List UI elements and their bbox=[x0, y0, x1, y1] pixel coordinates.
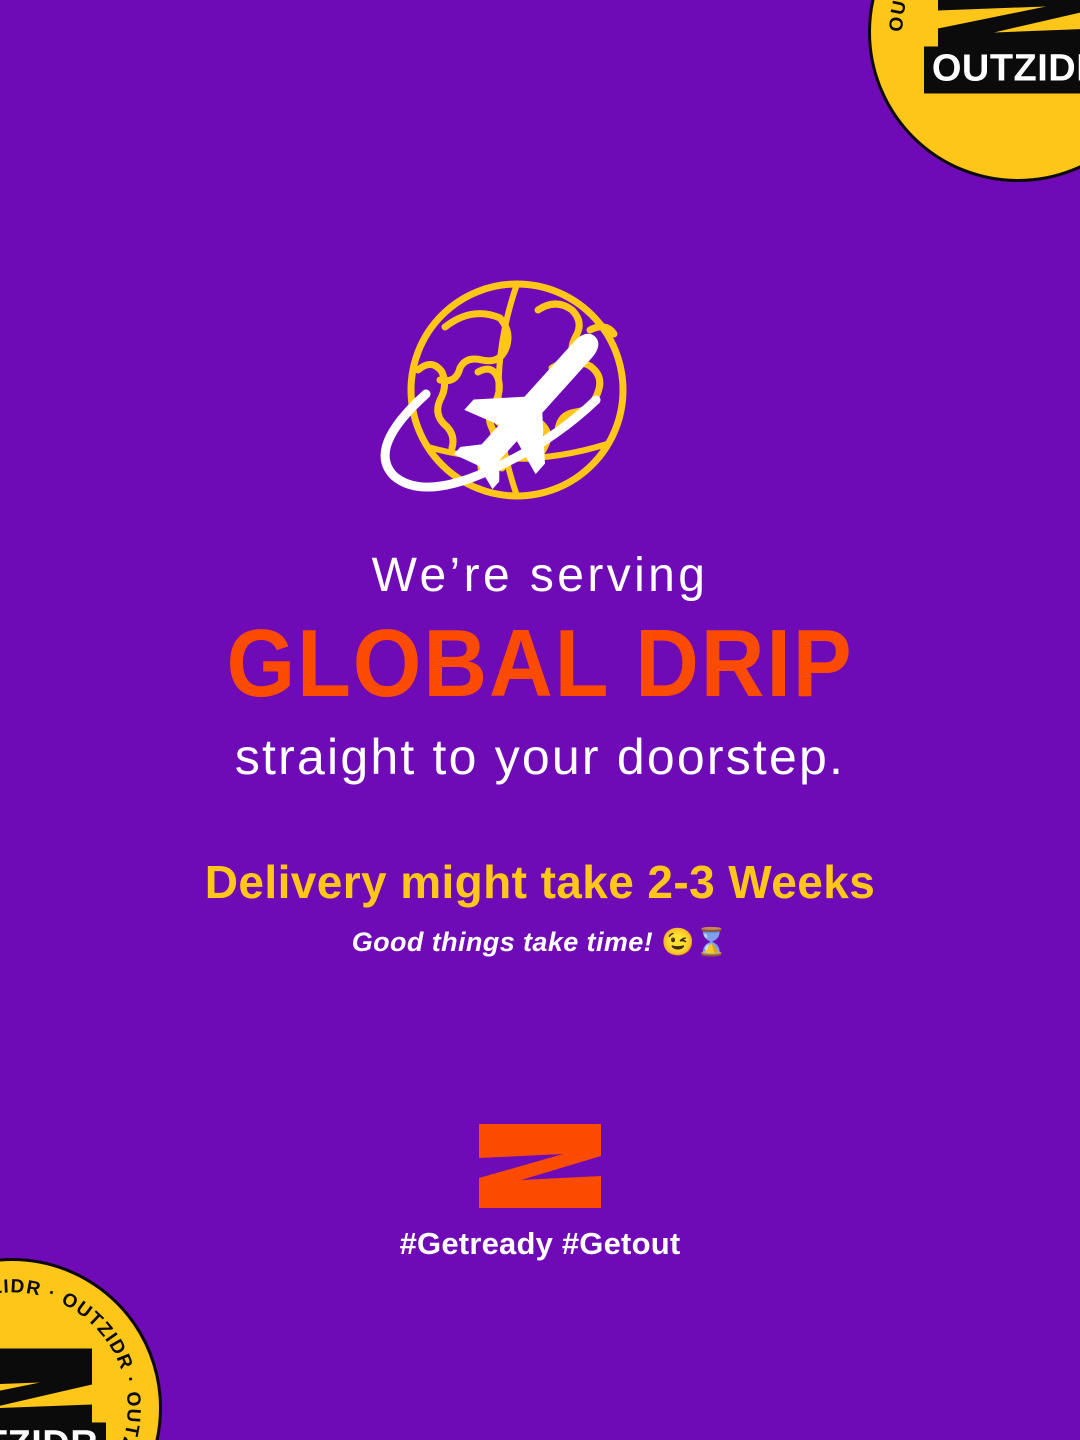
poster-canvas: OUTZIDR · OUTZIDR · OUTZIDR · OUTZIDR · … bbox=[0, 0, 1080, 1440]
brand-badge-top-right: OUTZIDR · OUTZIDR · OUTZIDR · OUTZIDR · … bbox=[868, 0, 1080, 182]
badge-wordmark: OUTZIDR bbox=[0, 1422, 106, 1440]
reassurance-line: Good things take time! 😉⌛ bbox=[0, 926, 1080, 960]
z-logo-icon bbox=[477, 1122, 603, 1210]
footer-tagline: #Getready #Getout bbox=[400, 1226, 681, 1262]
badge-core-bottom-left: OUTZIDR bbox=[0, 1346, 105, 1440]
delivery-notice-text: Delivery might take 2-3 Weeks bbox=[0, 855, 1080, 910]
badge-core-top-right: OUTZIDR bbox=[925, 0, 1080, 94]
message-block: We’re serving GLOBAL DRIP straight to yo… bbox=[0, 548, 1080, 959]
wink-hourglass-emoji: 😉⌛ bbox=[661, 927, 728, 957]
globe-icon bbox=[360, 272, 720, 522]
headline-text: GLOBAL DRIP bbox=[43, 615, 1037, 713]
brand-badge-bottom-left: OUTZIDR · OUTZIDR · OUTZIDR · OUTZIDR · … bbox=[0, 1258, 162, 1440]
badge-wordmark: OUTZIDR bbox=[924, 46, 1080, 93]
footer-brand-lockup: #Getready #Getout bbox=[0, 1122, 1080, 1262]
subhead-text: straight to your doorstep. bbox=[0, 727, 1080, 787]
airplane-icon bbox=[437, 304, 630, 503]
reassurance-text: Good things take time! bbox=[352, 927, 653, 957]
globe-airplane-illustration bbox=[360, 272, 720, 522]
eyebrow-text: We’re serving bbox=[0, 548, 1080, 605]
